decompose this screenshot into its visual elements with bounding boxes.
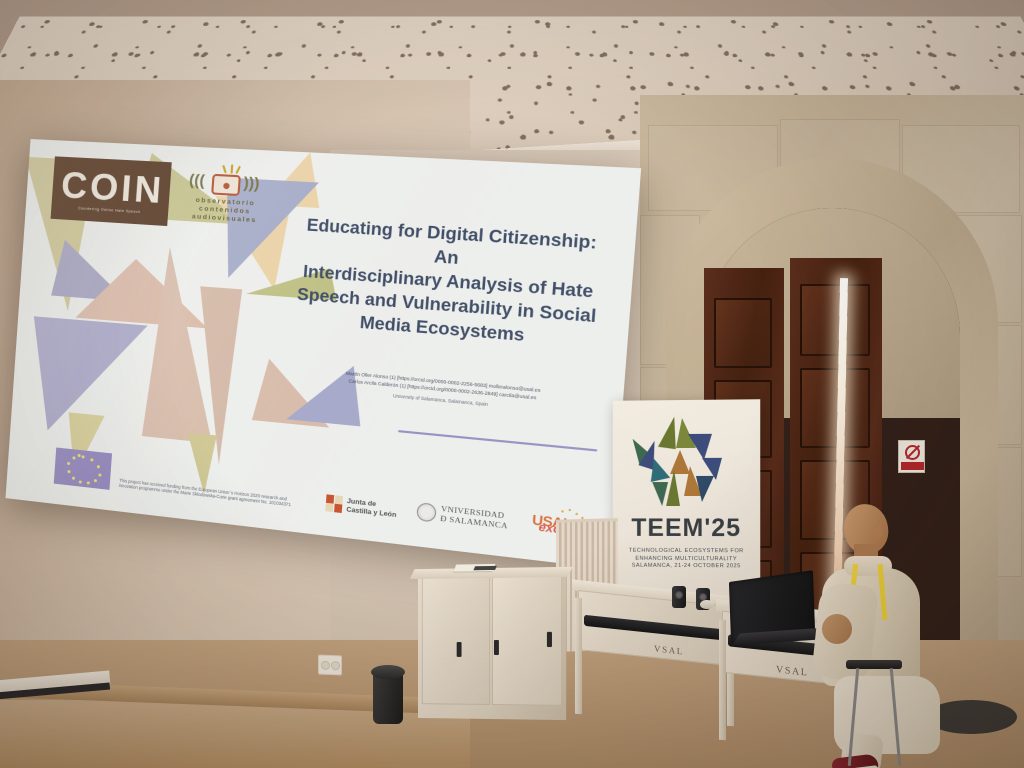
eu-flag-icon <box>54 447 112 489</box>
stool[interactable] <box>846 660 902 765</box>
coin-letter: I <box>120 172 132 205</box>
speaker-left <box>672 586 686 608</box>
junta-castilla-leon-logo: Junta de Castilla y León <box>325 494 397 520</box>
power-outlet <box>318 655 342 676</box>
teem-subtitle-line: TECHNOLOGICAL ECOSYSTEMS FOR <box>623 548 751 556</box>
usal-seal-icon <box>416 502 437 522</box>
presentation-slide: C O I N Countering Online Hate Speech ((… <box>5 139 641 569</box>
object-on-cabinet <box>473 566 496 570</box>
slide-title: Educating for Digital Citizenship: An In… <box>293 213 605 353</box>
presenter-ear <box>874 526 883 538</box>
waste-bin <box>373 672 403 724</box>
presenter-hand <box>822 614 852 644</box>
accent-rule <box>398 430 597 452</box>
teem-logo-icon <box>627 413 747 512</box>
observatorio-logo: ((( ))) observatorio contenidos audiovis… <box>177 169 272 237</box>
coin-letter: O <box>89 170 119 204</box>
coin-letter: C <box>60 169 88 203</box>
coin-logo: C O I N Countering Online Hate Speech <box>51 156 172 226</box>
projection-screen: C O I N Countering Online Hate Speech ((… <box>5 139 641 569</box>
teem-banner-title: TEEM'25 <box>613 514 760 543</box>
mouse[interactable] <box>700 600 714 609</box>
coin-tagline: Countering Online Hate Speech <box>78 206 141 214</box>
teem-banner-subtitle: TECHNOLOGICAL ECOSYSTEMS FOR ENHANCING M… <box>623 548 751 571</box>
tv-icon <box>211 174 241 196</box>
usal-logo: VNIVERSIDAD Ð SALAMANCA <box>416 502 509 530</box>
storage-cabinet[interactable] <box>418 567 566 721</box>
no-smoking-sign <box>898 440 925 473</box>
conference-room-photo: C O I N Countering Online Hate Speech ((… <box>0 0 1024 768</box>
funding-text: This project has received funding from t… <box>119 478 304 510</box>
coin-letters: C O I N <box>60 169 162 207</box>
presenter <box>818 498 994 768</box>
coin-letter: N <box>133 173 162 207</box>
teem-subtitle-line: SALAMANCA, 21-24 OCTOBER 2025 <box>623 563 751 571</box>
